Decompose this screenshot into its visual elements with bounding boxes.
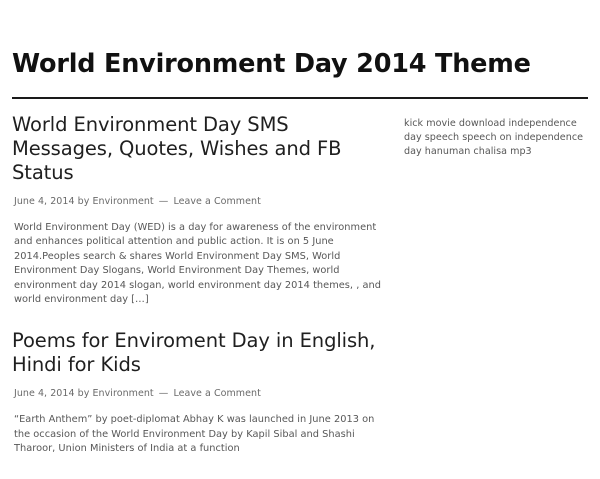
post-by-label: by bbox=[78, 196, 90, 207]
site-header: World Environment Day 2014 Theme bbox=[0, 0, 600, 79]
content-columns: World Environment Day SMS Messages, Quot… bbox=[0, 99, 600, 479]
post-date: June 4, 2014 bbox=[14, 388, 75, 399]
post-excerpt: World Environment Day (WED) is a day for… bbox=[14, 221, 392, 307]
post-author-link[interactable]: Environment bbox=[93, 388, 154, 399]
post-item: Poems for Enviroment Day in English, Hin… bbox=[12, 329, 392, 456]
page-root: World Environment Day 2014 Theme World E… bbox=[0, 0, 600, 400]
sidebar: kick movie download independence day spe… bbox=[392, 113, 588, 160]
post-excerpt: “Earth Anthem” by poet-diplomat Abhay K … bbox=[14, 413, 392, 456]
meta-separator: — bbox=[157, 196, 171, 207]
post-meta: June 4, 2014 by Environment — Leave a Co… bbox=[14, 388, 392, 400]
meta-separator: — bbox=[157, 388, 171, 399]
post-author-link[interactable]: Environment bbox=[93, 196, 154, 207]
post-date: June 4, 2014 bbox=[14, 196, 75, 207]
site-title[interactable]: World Environment Day 2014 Theme bbox=[12, 49, 588, 79]
post-meta: June 4, 2014 by Environment — Leave a Co… bbox=[14, 196, 392, 208]
tag-link[interactable]: kick movie download bbox=[404, 118, 505, 129]
post-by-label: by bbox=[78, 388, 90, 399]
post-title-link[interactable]: Poems for Enviroment Day in English, Hin… bbox=[12, 329, 392, 377]
main-content: World Environment Day SMS Messages, Quot… bbox=[12, 113, 392, 479]
tag-cloud-widget: kick movie download independence day spe… bbox=[404, 117, 588, 160]
tag-link[interactable]: hanuman chalisa mp3 bbox=[425, 146, 532, 157]
leave-a-comment-link[interactable]: Leave a Comment bbox=[173, 196, 260, 207]
post-item: World Environment Day SMS Messages, Quot… bbox=[12, 113, 392, 307]
leave-a-comment-link[interactable]: Leave a Comment bbox=[173, 388, 260, 399]
post-title-link[interactable]: World Environment Day SMS Messages, Quot… bbox=[12, 113, 392, 185]
